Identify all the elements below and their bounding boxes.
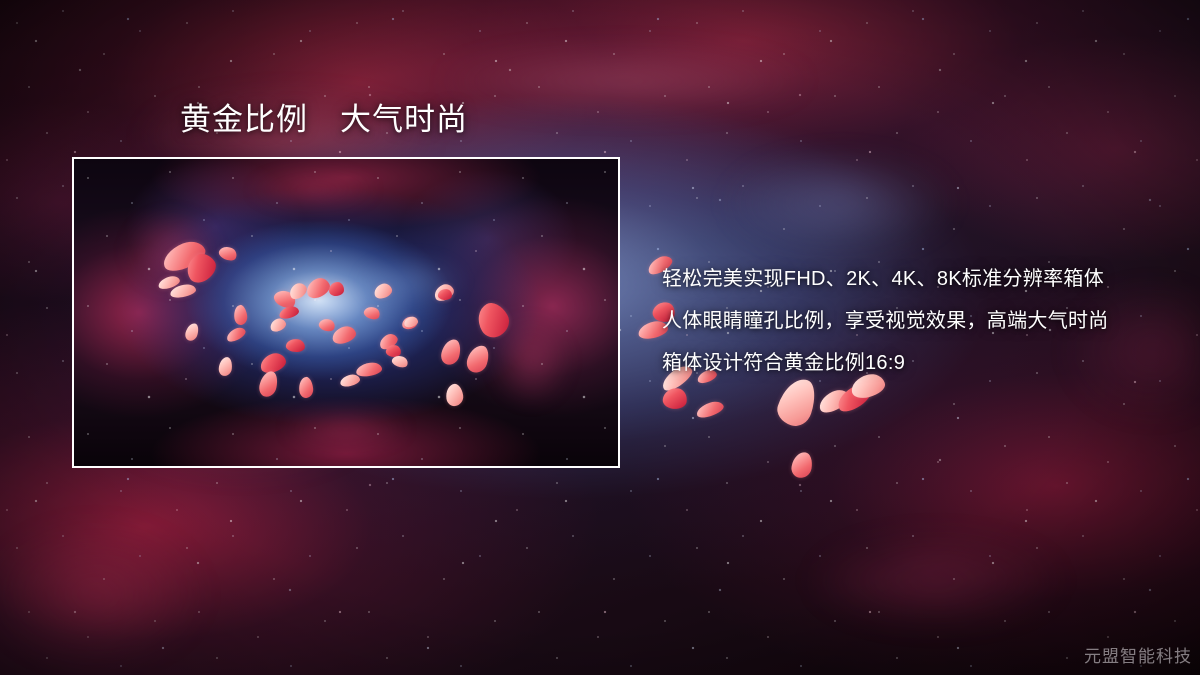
- copy-line: 轻松完美实现FHD、2K、4K、8K标准分辨率箱体: [662, 258, 1162, 300]
- copy-line: 人体眼睛瞳孔比例，享受视觉效果，高端大气时尚: [662, 300, 1162, 342]
- petal-shape: [329, 282, 344, 296]
- panel-starfield-icon: [74, 159, 618, 466]
- watermark: 元盟智能科技: [1084, 642, 1192, 667]
- preview-image-panel: [72, 157, 620, 468]
- body-copy-block: 轻松完美实现FHD、2K、4K、8K标准分辨率箱体 人体眼睛瞳孔比例，享受视觉效…: [662, 258, 1162, 384]
- page-title: 黄金比例 大气时尚: [180, 101, 468, 140]
- presentation-slide: 黄金比例 大气时尚: [0, 0, 1200, 675]
- copy-line: 箱体设计符合黄金比例16:9: [662, 342, 1162, 384]
